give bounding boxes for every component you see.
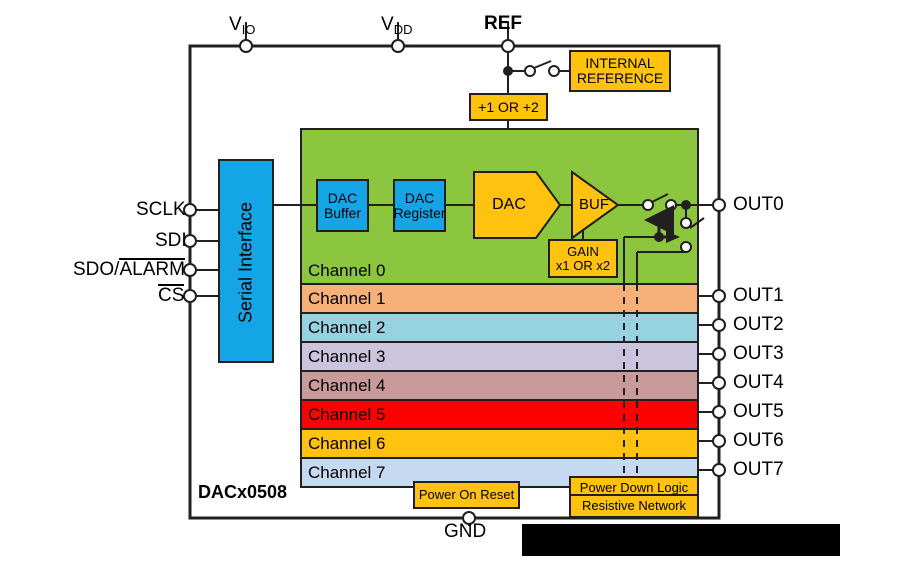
pin-label-gnd: GND	[444, 521, 486, 543]
pin-label-vio: VIO	[229, 14, 255, 37]
pin-out2-terminal	[713, 319, 725, 331]
channel-6-label: Channel 6	[308, 434, 386, 454]
pin-label-sdo-alarm: SDO/ALARM	[73, 259, 185, 281]
pin-label-out1: OUT1	[733, 285, 784, 307]
pin-label-cs: CS	[158, 285, 184, 307]
pin-label-out4: OUT4	[733, 372, 784, 394]
pin-vio-terminal	[240, 40, 252, 52]
out-switch-a-left	[643, 200, 653, 210]
out-switch-b-bottom	[681, 242, 691, 252]
channel-7-label: Channel 7	[308, 463, 386, 483]
pin-label-vdd: VDD	[381, 14, 412, 37]
ref-switch-terminal-left	[525, 66, 535, 76]
channel-5-label: Channel 5	[308, 405, 386, 425]
serial-interface-label: Serial Interface	[236, 193, 257, 333]
pin-cs-terminal	[184, 290, 196, 302]
pin-sdo-alarm-terminal	[184, 264, 196, 276]
pin-out0-terminal	[713, 199, 725, 211]
pin-label-out3: OUT3	[733, 343, 784, 365]
ref-switch-terminal-right	[549, 66, 559, 76]
resistive-network-block	[570, 495, 698, 517]
power-on-reset-block	[414, 482, 519, 508]
dac-register-block	[394, 180, 445, 231]
out-switch-a-right	[666, 200, 676, 210]
pin-out3-terminal	[713, 348, 725, 360]
pin-out5-terminal	[713, 406, 725, 418]
gain-block	[549, 240, 617, 277]
pin-label-sclk: SCLK	[136, 199, 186, 221]
ref-multiplier-block	[470, 94, 547, 120]
pin-out1-terminal	[713, 290, 725, 302]
channel-2-label: Channel 2	[308, 318, 386, 338]
pin-label-out5: OUT5	[733, 401, 784, 423]
device-label: DACx0508	[198, 482, 287, 503]
pin-label-out6: OUT6	[733, 430, 784, 452]
internal-reference-block	[570, 51, 670, 91]
channel-0-label: Channel 0	[308, 261, 386, 281]
pin-label-out7: OUT7	[733, 459, 784, 481]
pin-vdd-terminal	[392, 40, 404, 52]
channel-1-label: Channel 1	[308, 289, 386, 309]
redaction-box	[522, 524, 840, 556]
pin-out4-terminal	[713, 377, 725, 389]
pin-label-out2: OUT2	[733, 314, 784, 336]
channel-3-label: Channel 3	[308, 347, 386, 367]
channel-4-label: Channel 4	[308, 376, 386, 396]
pin-ref-terminal	[502, 40, 514, 52]
dac-buffer-block	[317, 180, 368, 231]
pin-label-sdi: SDI	[155, 230, 187, 252]
out-switch-b-top	[681, 218, 691, 228]
block-diagram-canvas: VIO VDD REF SCLK SDI SDO/ALARM CS OUT0 O…	[0, 0, 900, 584]
pin-label-out0: OUT0	[733, 194, 784, 216]
pin-out7-terminal	[713, 464, 725, 476]
pin-out6-terminal	[713, 435, 725, 447]
pin-label-ref: REF	[484, 13, 522, 35]
